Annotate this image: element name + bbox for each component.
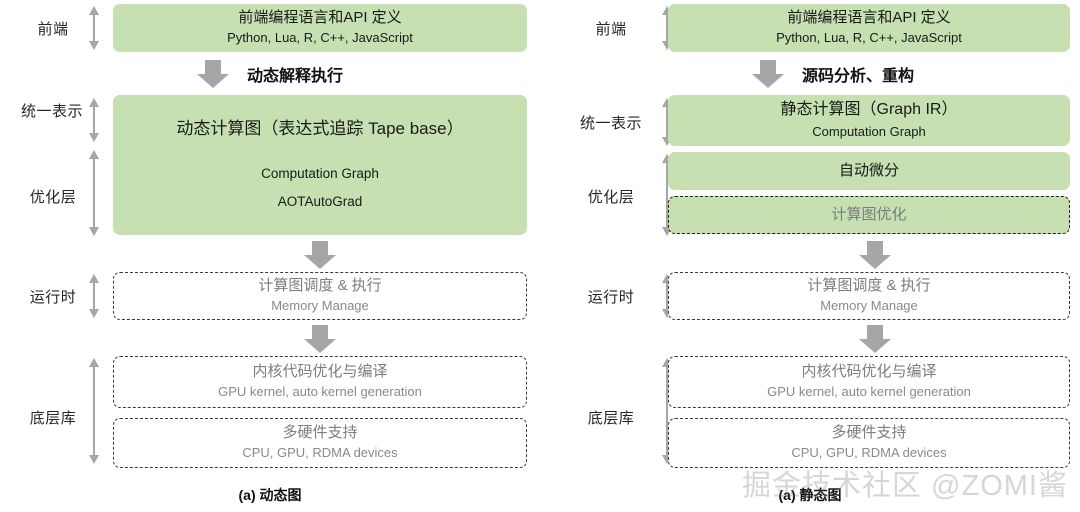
box-kernel[interactable]: 内核代码优化与编译 GPU kernel, auto kernel genera… [113, 356, 527, 408]
panel-static-graph: 前端 统一表示 优化层 运行时 底层库 前端编程语言和API 定义 Python… [540, 0, 1080, 512]
box-graph-ir[interactable]: 静态计算图（Graph IR） Computation Graph [668, 95, 1070, 146]
box-kernel-title: 内核代码优化与编译 [252, 362, 387, 382]
panel-caption-dynamic: (a) 动态图 [0, 485, 540, 505]
range-arrow-base-lib [85, 356, 103, 466]
flow-arrow-3 [302, 324, 338, 354]
box-graph-ir-subtitle: Computation Graph [812, 123, 925, 142]
down-arrow-icon [857, 240, 893, 270]
range-arrow-unified-repr [85, 96, 103, 144]
box-graph-optimization-title: 计算图优化 [831, 205, 906, 225]
box-autodiff-title: 自动微分 [839, 161, 899, 181]
stage-label-optimization: 优化层 [10, 186, 96, 207]
box-runtime-subtitle: Memory Manage [820, 297, 918, 316]
box-hardware[interactable]: 多硬件支持 CPU, GPU, RDMA devices [113, 418, 527, 468]
box-graph-ir-title: 静态计算图（Graph IR） [781, 99, 958, 121]
flow-arrow-2 [302, 240, 338, 270]
stage-label-base-lib: 底层库 [10, 407, 96, 428]
down-arrow-icon [857, 324, 893, 354]
box-runtime-title: 计算图调度 & 执行 [258, 276, 381, 296]
box-hardware-title: 多硬件支持 [831, 423, 906, 443]
down-arrow-icon [302, 324, 338, 354]
flow-arrow-1: 源码分析、重构 [750, 58, 914, 90]
stage-label-frontend: 前端 [10, 18, 96, 39]
box-frontend[interactable]: 前端编程语言和API 定义 Python, Lua, R, C++, JavaS… [113, 4, 527, 52]
down-arrow-icon [195, 58, 231, 90]
flow-arrow-3 [857, 324, 893, 354]
stage-label-frontend: 前端 [568, 18, 654, 39]
box-frontend-title: 前端编程语言和API 定义 [787, 8, 950, 28]
flow-arrow-1: 动态解释执行 [195, 58, 343, 90]
panel-dynamic-graph: 前端 统一表示 优化层 运行时 底层库 前端编程语言和API 定义 Python… [0, 0, 540, 512]
box-hardware[interactable]: 多硬件支持 CPU, GPU, RDMA devices [668, 418, 1070, 468]
box-kernel[interactable]: 内核代码优化与编译 GPU kernel, auto kernel genera… [668, 356, 1070, 408]
box-frontend-title: 前端编程语言和API 定义 [238, 8, 401, 28]
box-graph-optimization[interactable]: 计算图优化 [668, 196, 1070, 234]
flow-arrow-1-label: 动态解释执行 [247, 62, 343, 86]
box-hardware-subtitle: CPU, GPU, RDMA devices [791, 444, 946, 463]
box-dynamic-graph-subtitle2: AOTAutoGrad [278, 192, 363, 212]
stage-label-runtime: 运行时 [568, 286, 654, 307]
stage-label-base-lib: 底层库 [568, 407, 654, 428]
box-runtime-subtitle: Memory Manage [271, 297, 369, 316]
flow-arrow-2 [857, 240, 893, 270]
box-frontend[interactable]: 前端编程语言和API 定义 Python, Lua, R, C++, JavaS… [668, 4, 1070, 52]
range-arrow-optimization [85, 148, 103, 238]
box-kernel-subtitle: GPU kernel, auto kernel generation [218, 383, 422, 402]
box-hardware-title: 多硬件支持 [282, 423, 357, 443]
box-kernel-subtitle: GPU kernel, auto kernel generation [767, 383, 971, 402]
range-arrow-frontend [85, 4, 103, 52]
box-dynamic-graph[interactable]: 动态计算图（表达式追踪 Tape base） Computation Graph… [113, 95, 527, 235]
box-hardware-subtitle: CPU, GPU, RDMA devices [242, 444, 397, 463]
box-runtime-title: 计算图调度 & 执行 [807, 276, 930, 296]
panel-caption-static: (a) 静态图 [540, 485, 1080, 505]
box-frontend-subtitle: Python, Lua, R, C++, JavaScript [227, 29, 413, 48]
stage-label-runtime: 运行时 [10, 286, 96, 307]
down-arrow-icon [302, 240, 338, 270]
box-frontend-subtitle: Python, Lua, R, C++, JavaScript [776, 29, 962, 48]
down-arrow-icon [750, 58, 786, 90]
range-arrow-runtime [85, 272, 103, 320]
stage-label-unified-repr: 统一表示 [554, 112, 668, 133]
stage-label-optimization: 优化层 [568, 186, 654, 207]
box-runtime[interactable]: 计算图调度 & 执行 Memory Manage [668, 272, 1070, 320]
box-dynamic-graph-title: 动态计算图（表达式追踪 Tape base） [176, 118, 463, 141]
box-runtime[interactable]: 计算图调度 & 执行 Memory Manage [113, 272, 527, 320]
box-autodiff[interactable]: 自动微分 [668, 152, 1070, 190]
flow-arrow-1-label: 源码分析、重构 [802, 62, 914, 86]
box-dynamic-graph-subtitle: Computation Graph [261, 164, 379, 184]
box-kernel-title: 内核代码优化与编译 [801, 362, 936, 382]
